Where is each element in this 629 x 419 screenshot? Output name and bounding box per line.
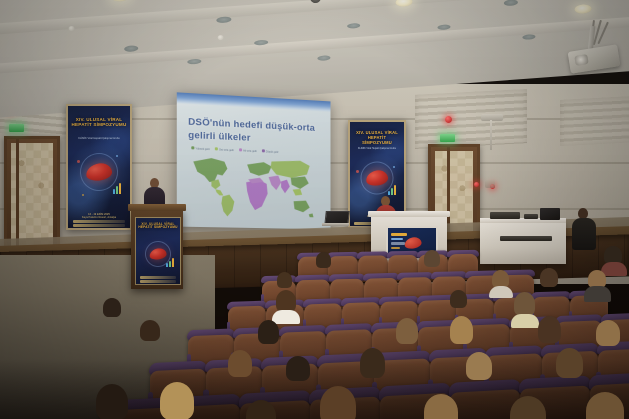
podium-top <box>128 204 186 211</box>
ceiling-vent <box>437 24 450 30</box>
audience-member <box>316 252 331 270</box>
audience-member <box>96 384 128 419</box>
banner-sponsor-logos <box>73 210 125 227</box>
wall-speaker <box>485 180 495 188</box>
audience-member <box>396 318 418 350</box>
ceiling-downlight <box>574 4 592 14</box>
exit-sign-right <box>440 134 455 142</box>
audience-member <box>424 394 458 419</box>
av-equipment <box>490 212 520 219</box>
audience-member <box>450 316 473 350</box>
audience-member <box>492 270 509 294</box>
audience-member <box>540 268 558 292</box>
legend-entry: Yüksek gelir <box>191 146 210 151</box>
fire-alarm-light-right <box>445 116 452 123</box>
wall-indicator-light-a <box>474 182 479 187</box>
audience-member <box>360 348 385 386</box>
av-monitor <box>540 208 560 220</box>
audience-member <box>160 382 194 419</box>
ceiling-vent <box>124 45 138 52</box>
desk-top <box>368 211 450 217</box>
acoustic-slat-panel-right <box>415 89 527 149</box>
acoustic-slat-panel-far-right <box>560 96 629 146</box>
slide-title: DSÖ'nün hedefi düşük-orta gelirli ülkele… <box>188 115 321 147</box>
audience-member <box>588 270 606 296</box>
ceiling-vent <box>522 34 535 40</box>
ceiling-vent <box>347 23 360 29</box>
audience-member <box>586 392 624 419</box>
audience-member <box>604 246 622 270</box>
banner-subtitle: KLİMİK Viral Hepatit Çalışma Grubu <box>73 137 125 140</box>
audience-member <box>538 316 561 350</box>
banner-title: XIV. ULUSAL VİRAL HEPATİT SİMPOZYUMU <box>353 131 402 145</box>
audience-member <box>424 250 440 270</box>
projector-lens-icon <box>574 54 588 66</box>
av-operator <box>572 208 596 248</box>
ceiling-downlight <box>110 0 131 2</box>
audience-member <box>103 298 121 322</box>
photo-canvas: DSÖ'nün hedefi düşük-orta gelirli ülkele… <box>0 0 629 419</box>
ceiling-vent <box>187 59 201 65</box>
smoke-detector <box>68 26 74 31</box>
podium-banner-title: XIV. ULUSAL VİRAL HEPATİT SİMPOZYUMU <box>138 223 178 230</box>
audience-member <box>556 348 583 388</box>
audience-member <box>140 320 160 346</box>
audience-member <box>320 386 356 419</box>
ceiling-projector <box>563 26 625 72</box>
audience-member <box>596 320 620 354</box>
wall-mount-bracket <box>481 114 503 121</box>
ceiling-vent <box>216 16 231 23</box>
audience-member <box>510 396 546 419</box>
audience-member <box>286 356 310 388</box>
legend-entry: Üst-orta gelir <box>215 147 234 152</box>
av-equipment <box>524 214 538 219</box>
audience-member <box>450 290 467 312</box>
event-banner-left: XIV. ULUSAL VİRAL HEPATİT SİMPOZYUMU KLİ… <box>66 104 132 230</box>
exit-sign-left <box>9 124 24 132</box>
smoke-detector <box>217 35 223 40</box>
laptop <box>322 211 348 227</box>
projection-screen: DSÖ'nün hedefi düşük-orta gelirli ülkele… <box>177 92 331 229</box>
ceiling-vent <box>504 0 518 6</box>
projector-body <box>568 44 621 74</box>
wall-mount-pole <box>490 120 492 150</box>
audience-member <box>514 292 535 322</box>
banner-subtitle: KLİMİK Viral Hepatit Çalışma Grubu <box>354 148 399 151</box>
legend-entry: Alt-orta gelir <box>239 148 257 153</box>
banner-title: XIV. ULUSAL VİRAL HEPATİT SİMPOZYUMU <box>71 117 127 127</box>
audience-member <box>466 352 492 388</box>
audience-member <box>228 350 252 384</box>
slide-surface: DSÖ'nün hedefi düşük-orta gelirli ülkele… <box>177 92 331 229</box>
audience-area <box>0 236 629 419</box>
ceiling-vent <box>317 55 330 61</box>
audience-member <box>277 272 292 292</box>
audience-member <box>276 290 296 318</box>
audience-member <box>258 320 279 350</box>
audience-member <box>246 400 276 419</box>
ceiling-downlight <box>395 0 413 7</box>
legend-entry: Düşük gelir <box>262 149 279 154</box>
world-map-graphic <box>189 152 316 220</box>
